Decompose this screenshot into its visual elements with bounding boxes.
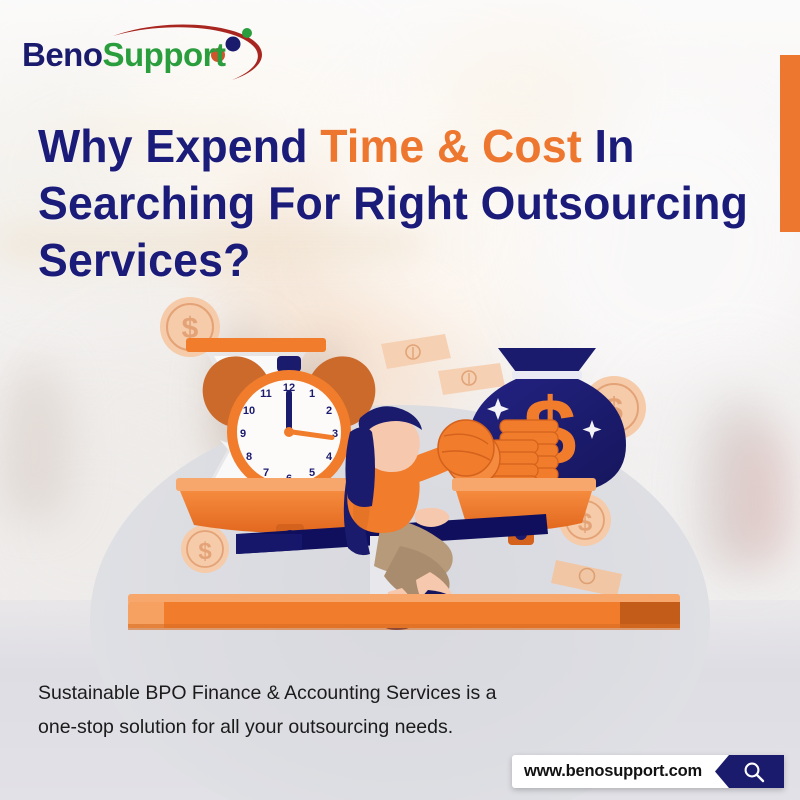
tagline: Sustainable BPO Finance & Accounting Ser… — [38, 676, 618, 744]
headline-part-navy-b: In — [582, 120, 635, 172]
headline-part-accent: Time & Cost — [320, 120, 582, 172]
tagline-line-2: one-stop solution for all your outsourci… — [38, 710, 618, 744]
accent-bar-right — [780, 55, 800, 232]
marketing-poster: BenoSupport — [0, 0, 800, 800]
headline-line-2: Searching For Right Outsourcing — [38, 175, 736, 232]
background-blur-person — [735, 430, 785, 560]
logo-text-beno: Beno — [22, 36, 103, 73]
headline-part-navy-a: Why Expend — [38, 120, 320, 172]
url-search-button[interactable] — [715, 755, 784, 788]
logo-text-support: Support — [103, 36, 226, 73]
brand-logo[interactable]: BenoSupport — [18, 10, 278, 90]
website-url-bar[interactable]: www.benosupport.com — [512, 755, 784, 788]
background-blur-person — [0, 360, 70, 520]
tagline-line-1: Sustainable BPO Finance & Accounting Ser… — [38, 676, 618, 710]
page-title: Why Expend Time & Cost In Searching For … — [38, 118, 758, 289]
url-text: www.benosupport.com — [524, 755, 702, 788]
headline-line-1: Why Expend Time & Cost In — [38, 118, 736, 175]
search-icon — [743, 761, 765, 783]
headline-line-3: Services? — [38, 232, 736, 289]
logo-wordmark: BenoSupport — [22, 36, 225, 74]
